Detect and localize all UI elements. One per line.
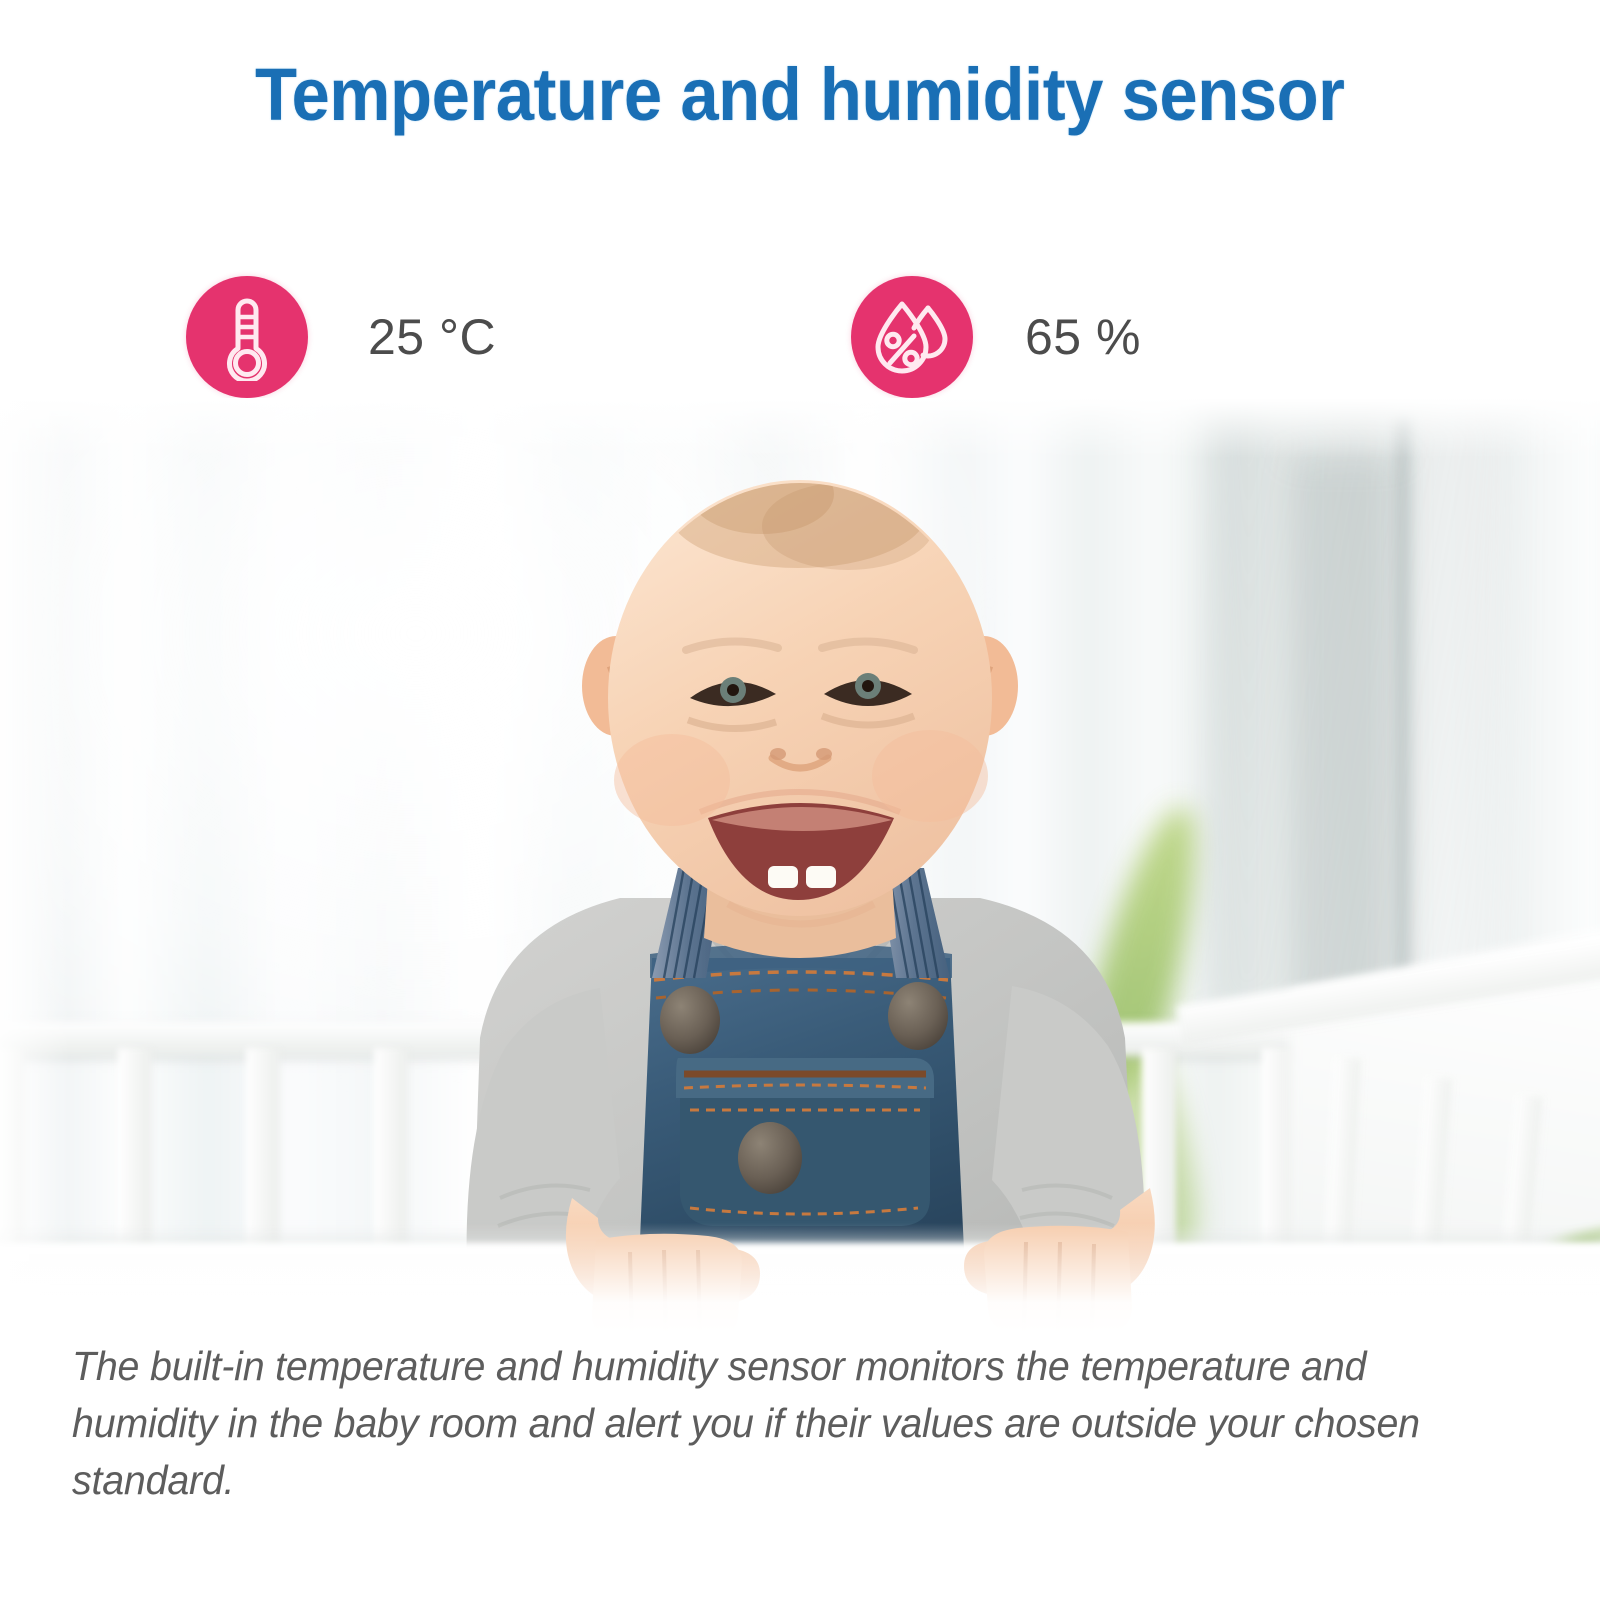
humidity-value: 65 % — [1025, 308, 1141, 366]
thermometer-icon — [212, 293, 282, 381]
temperature-readout: 25 °C — [186, 276, 496, 398]
page-title-container: Temperature and humidity sensor — [0, 52, 1600, 137]
feature-description: The built-in temperature and humidity se… — [72, 1338, 1435, 1509]
photo-top-fade — [0, 398, 1600, 458]
sensor-readout-row: 25 °C 65 % — [0, 276, 1600, 406]
baby-hands — [0, 398, 1600, 1333]
product-feature-card: Temperature and humidity sensor 25 °C — [0, 0, 1600, 1600]
humidity-droplet-percent-icon — [870, 295, 954, 379]
humidity-badge — [851, 276, 973, 398]
photo-left-fade — [0, 398, 70, 1333]
temperature-value: 25 °C — [368, 308, 496, 366]
humidity-readout: 65 % — [851, 276, 1141, 398]
photo-bottom-fade — [0, 1223, 1600, 1333]
temperature-badge — [186, 276, 308, 398]
page-title: Temperature and humidity sensor — [255, 52, 1344, 137]
baby-in-crib-photo — [0, 398, 1600, 1333]
